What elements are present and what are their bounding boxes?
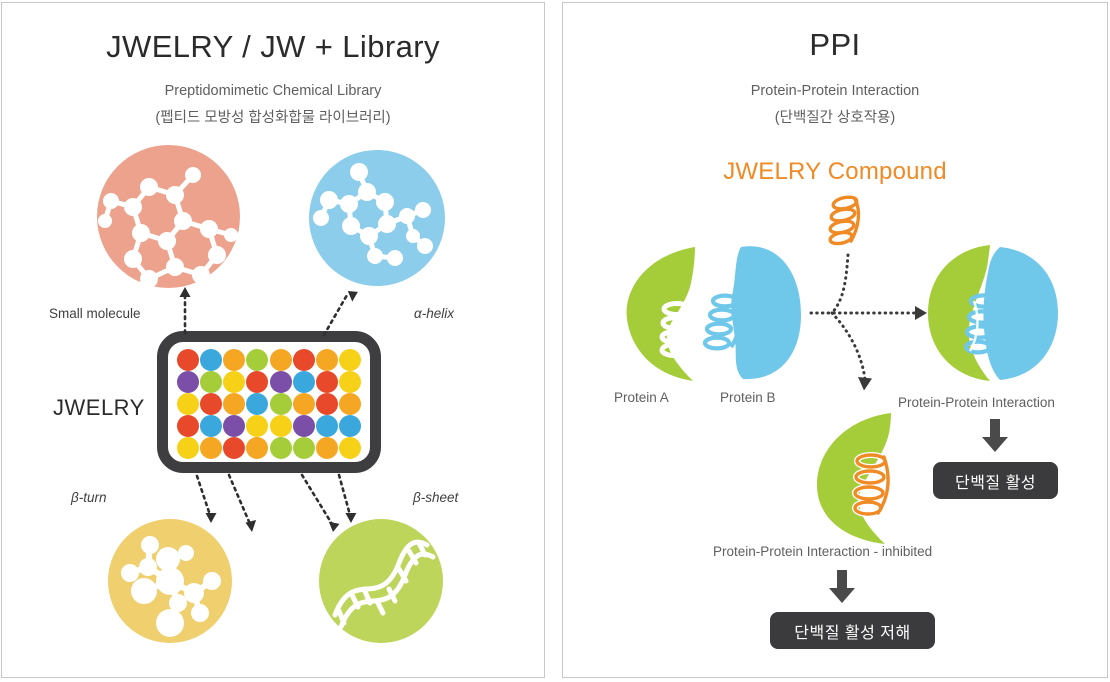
beta-turn-circle <box>108 519 232 643</box>
badge-protein-inhibited[interactable]: 단백질 활성 저해 <box>770 612 935 649</box>
right-panel: PPI Protein-Protein Interaction (단백질간 상호… <box>562 2 1108 678</box>
ppi-inhibited-shape <box>813 411 913 546</box>
left-panel: JWELRY / JW + Library Preptidomimetic Ch… <box>1 2 545 678</box>
badge-protein-active[interactable]: 단백질 활성 <box>933 462 1058 499</box>
ppi-complex-shape <box>928 243 1058 383</box>
beta-turn-molecule-icon <box>108 519 232 643</box>
left-panel-arrows <box>2 3 546 679</box>
beta-sheet-circle <box>319 519 443 643</box>
beta-turn-label-text: β-turn <box>71 490 106 505</box>
ppi-inhibited-label: Protein-Protein Interaction - inhibited <box>713 544 932 559</box>
beta-sheet-label-text: β-sheet <box>413 490 458 505</box>
ppi-label: Protein-Protein Interaction <box>898 395 1055 410</box>
arrow-down-inhibited-icon <box>827 570 857 604</box>
arrow-down-active-icon <box>980 419 1010 453</box>
beta-turn-label: β-turn <box>71 490 106 505</box>
figure-canvas: JWELRY / JW + Library Preptidomimetic Ch… <box>0 0 1110 682</box>
dna-helix-icon <box>319 519 443 643</box>
beta-sheet-label: β-sheet <box>413 490 458 505</box>
